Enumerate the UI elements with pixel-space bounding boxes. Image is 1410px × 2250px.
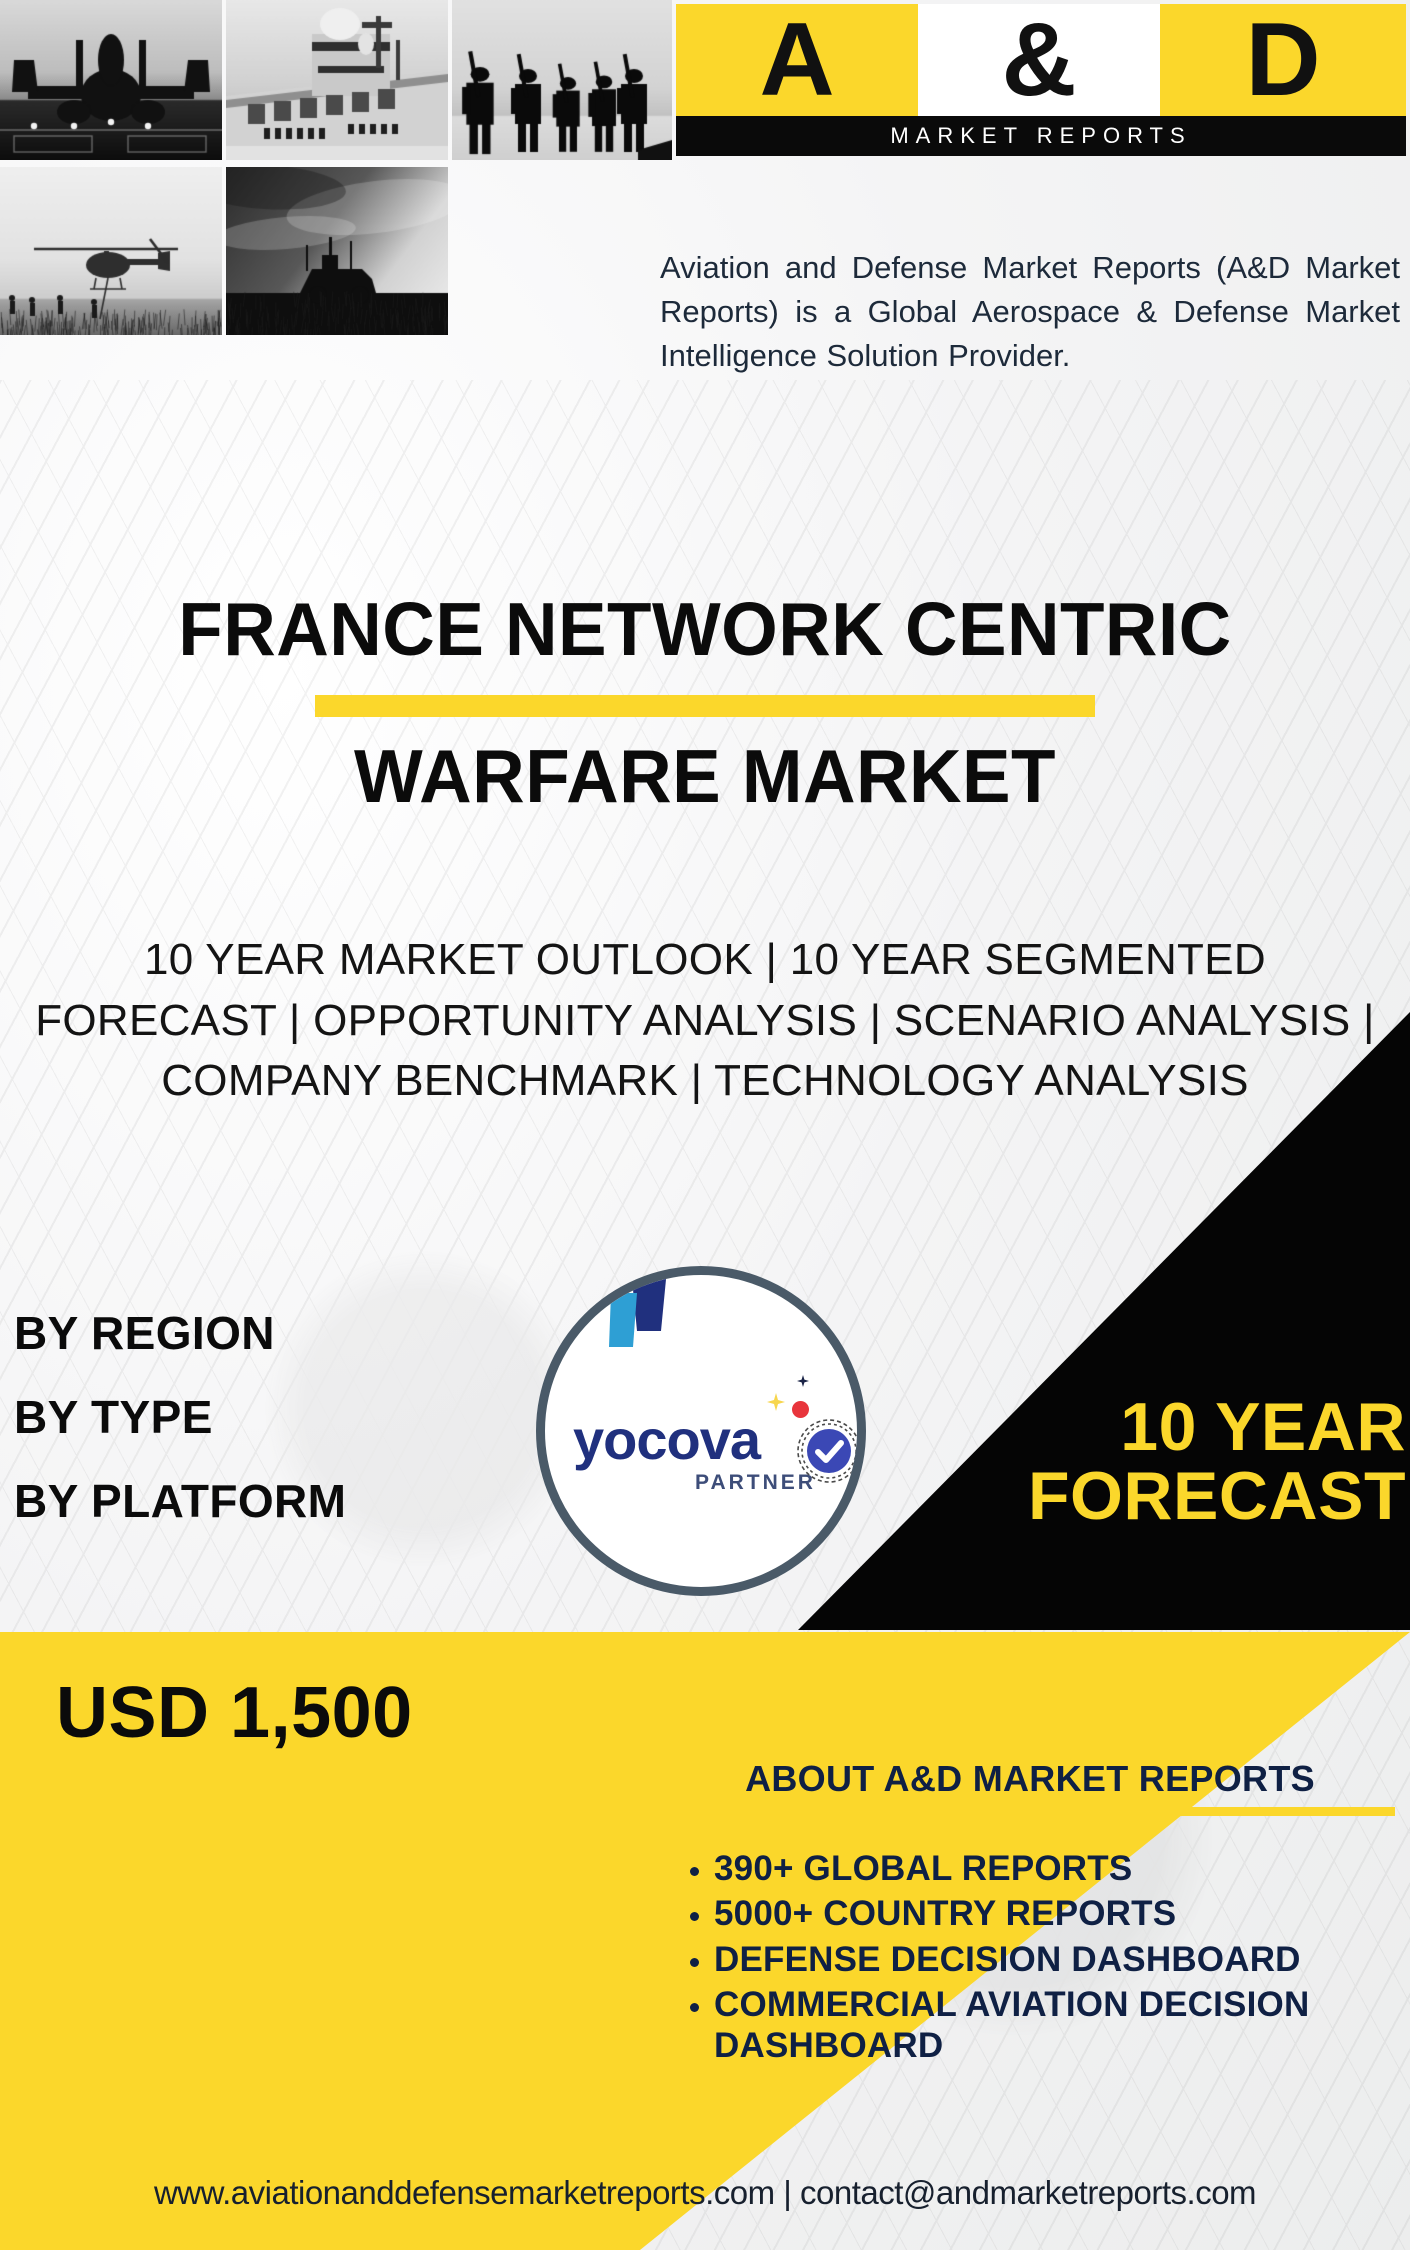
navy-sparkle-icon (797, 1375, 809, 1387)
about-section: ABOUT A&D MARKET REPORTS 390+ GLOBAL REP… (660, 1758, 1400, 2070)
price-value: USD 1,500 (56, 1672, 413, 1754)
logo-letter-d: D (1245, 8, 1320, 112)
about-title-underline (660, 1807, 1395, 1816)
title-accent-rule (315, 695, 1095, 717)
page-title-line-2: WARFARE MARKET (21, 739, 1389, 814)
photo-helicopter-over-field (0, 167, 222, 335)
about-bullet-list: 390+ GLOBAL REPORTS 5000+ COUNTRY REPORT… (660, 1848, 1400, 2066)
segmentation-item-platform: BY PLATFORM (14, 1478, 484, 1524)
about-bullet-item: DEFENSE DECISION DASHBOARD (714, 1939, 1400, 1980)
segmentation-item-region: BY REGION (14, 1310, 484, 1356)
about-bullet-item: 5000+ COUNTRY REPORTS (714, 1893, 1400, 1934)
yocova-flag-icon (597, 1269, 683, 1365)
about-bullet-item: COMMERCIAL AVIATION DECISION DASHBOARD (714, 1984, 1400, 2067)
svg-text:yocova: yocova (573, 1413, 762, 1471)
logo-tile-ampersand: & (918, 4, 1160, 116)
photo-soldiers-silhouette-patrol (452, 0, 672, 160)
logo-letter-row: A & D (676, 4, 1406, 116)
forecast-line-2: FORECAST (850, 1462, 1406, 1531)
page-title-line-1: FRANCE NETWORK CENTRIC (21, 592, 1389, 667)
about-bullet-item: 390+ GLOBAL REPORTS (714, 1848, 1400, 1889)
logo-letter-ampersand: & (1001, 8, 1076, 112)
poster-root: A & D MARKET REPORTS Aviation and Defens… (0, 0, 1410, 2250)
page-subtitle: 10 YEAR MARKET OUTLOOK | 10 YEAR SEGMENT… (30, 930, 1380, 1112)
forecast-line-1: 10 YEAR (850, 1393, 1406, 1462)
brand-logo: A & D MARKET REPORTS (676, 4, 1406, 156)
photo-aircraft-carrier-superstructure (226, 0, 448, 160)
segmentation-list: BY REGION BY TYPE BY PLATFORM (14, 1310, 484, 1562)
footer-contact: www.aviationanddefensemarketreports.com … (0, 2174, 1410, 2212)
segmentation-item-type: BY TYPE (14, 1394, 484, 1440)
yocova-partner-badge: yocova PARTNER (536, 1266, 866, 1596)
page-title: FRANCE NETWORK CENTRIC WARFARE MARKET (0, 592, 1410, 814)
yocova-wordmark: yocova (573, 1413, 813, 1473)
photo-fighter-jet-on-carrier-deck (0, 0, 222, 160)
photo-armored-vehicle-at-dusk (226, 167, 448, 335)
header-photo-grid (0, 0, 672, 338)
forecast-callout: 10 YEAR FORECAST (850, 1393, 1406, 1532)
about-section-title: ABOUT A&D MARKET REPORTS (660, 1758, 1400, 1800)
logo-tile-d: D (1160, 4, 1406, 116)
logo-tile-a: A (676, 4, 918, 116)
yellow-sparkle-icon (767, 1393, 785, 1411)
intro-paragraph: Aviation and Defense Market Reports (A&D… (660, 246, 1400, 378)
logo-letter-a: A (759, 8, 834, 112)
logo-tagline: MARKET REPORTS (890, 123, 1191, 149)
logo-tagline-bar: MARKET REPORTS (676, 116, 1406, 156)
